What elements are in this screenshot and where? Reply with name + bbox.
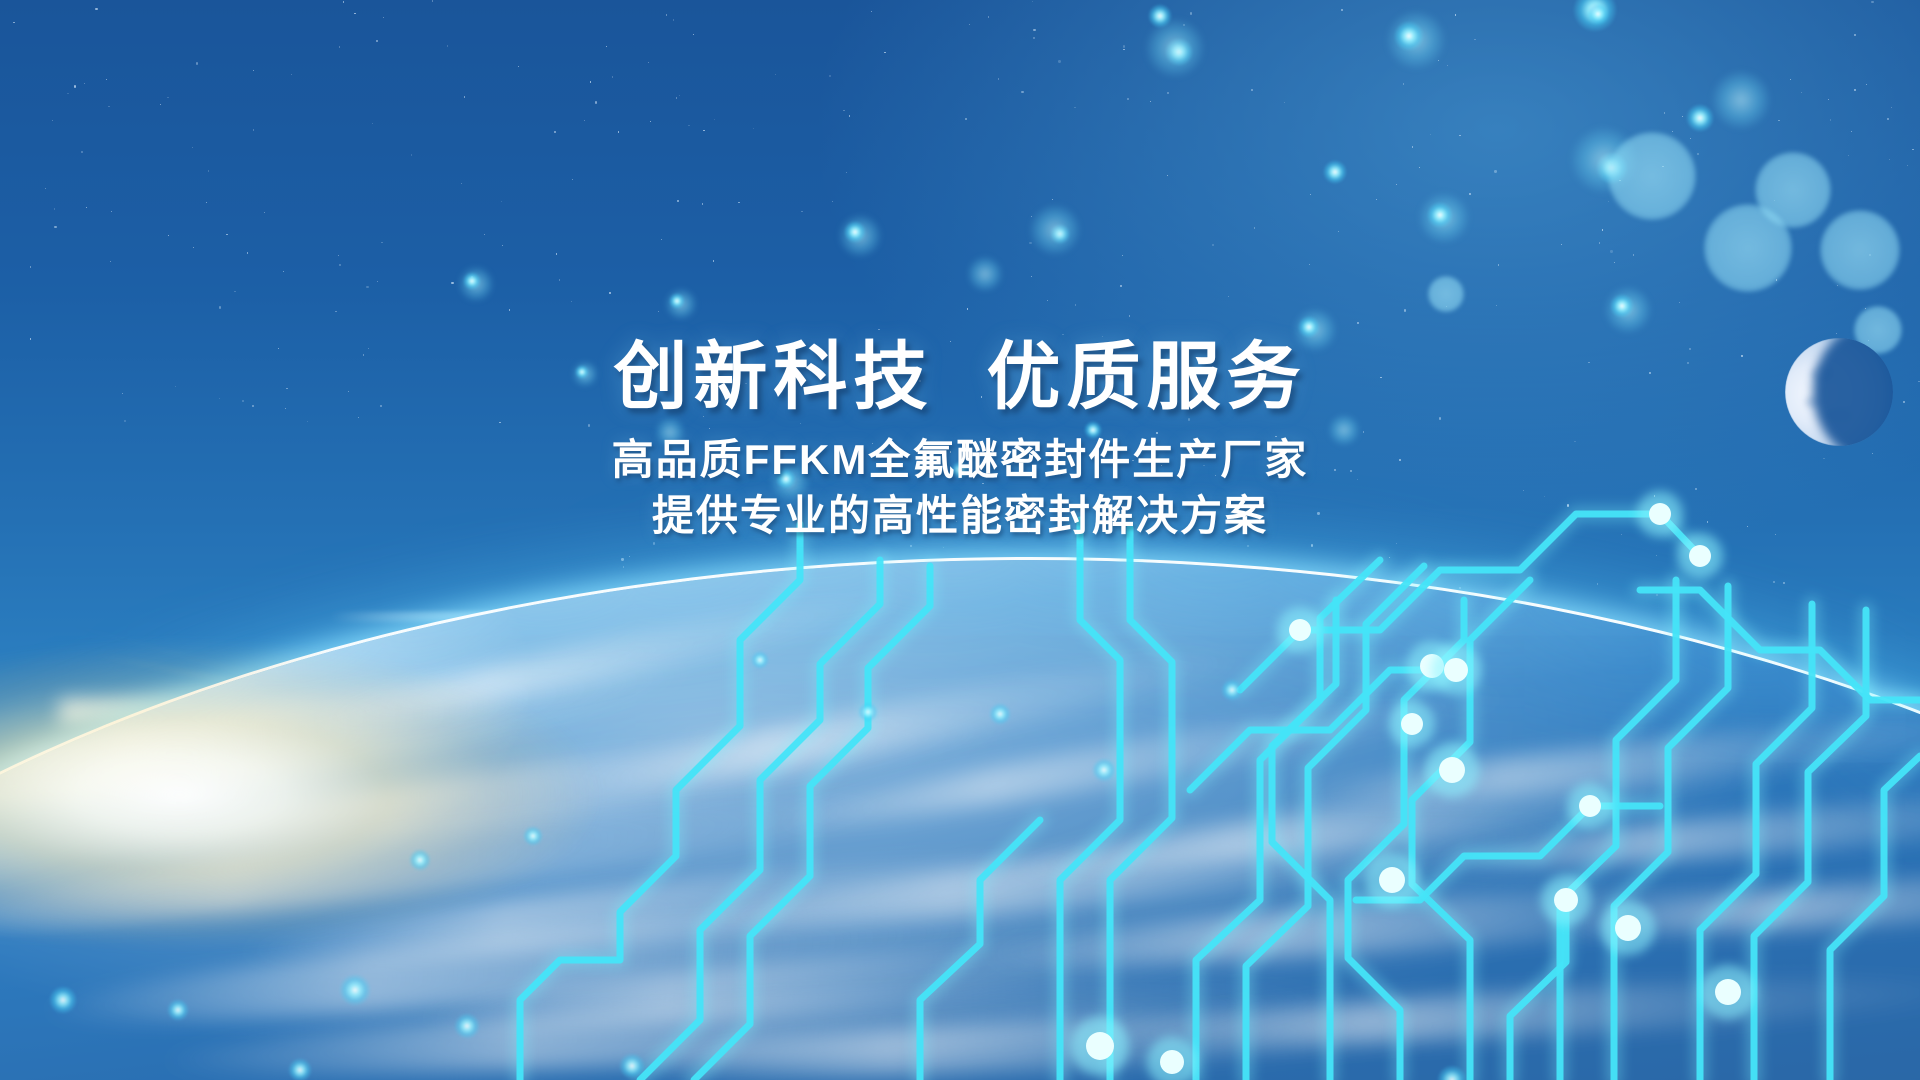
star-dot [1608, 201, 1609, 202]
star-dot [1610, 250, 1612, 252]
star-dot [969, 24, 970, 25]
star-dot [1167, 175, 1168, 176]
star-dot [196, 62, 198, 64]
star-dot [167, 97, 168, 98]
circuit-node-glow [1277, 607, 1323, 653]
star-dot [1494, 170, 1496, 172]
sun-ray [152, 717, 420, 850]
cloud-band [1420, 777, 1920, 883]
star-dot [849, 115, 850, 116]
glow-dot [339, 974, 371, 1006]
circuit-trace [1246, 566, 1424, 1080]
circuit-trace [694, 566, 930, 1080]
circuit-trace [640, 560, 880, 1080]
circuit-trace [1510, 900, 1566, 1080]
star-dot [679, 95, 680, 96]
circuit-trace [920, 820, 1040, 1080]
star-dot [801, 211, 802, 212]
star-dot [1404, 309, 1406, 311]
star-dot [84, 83, 85, 84]
star-dot [1801, 92, 1802, 93]
cloud-band [762, 674, 1517, 845]
star-dot [1297, 596, 1298, 597]
star-dot [1559, 630, 1561, 632]
star-dot [247, 252, 248, 253]
bokeh-orb [1610, 294, 1634, 318]
star-dot [714, 119, 715, 120]
bokeh-orb [844, 221, 866, 243]
circuit-trace [694, 566, 930, 1080]
star-dot [673, 19, 674, 20]
circuit-trace [1060, 520, 1120, 1080]
page-title: 创新科技 优质服务 [0, 338, 1920, 416]
circuit-trace [1190, 670, 1456, 790]
glow-dot [1221, 679, 1243, 701]
star-dot [829, 75, 831, 77]
circuit-node-glow [1567, 783, 1613, 829]
lens-flare-streak [330, 612, 1210, 622]
circuit-node-glow [1601, 901, 1656, 956]
star-dot [666, 14, 667, 15]
star-dot [1774, 200, 1775, 201]
glow-dot [858, 702, 878, 722]
star-dot [1633, 254, 1634, 255]
bokeh-orb [669, 293, 685, 309]
star-dot [571, 301, 572, 302]
star-dot [1033, 37, 1034, 38]
star-dot [1081, 545, 1082, 546]
star-dot [1574, 628, 1575, 629]
star-dot [965, 118, 967, 120]
circuit-node-glow [1541, 875, 1591, 925]
star-dot [291, 74, 292, 75]
bokeh-orb [1428, 276, 1464, 312]
bokeh-orb [967, 256, 1003, 292]
star-dot [383, 17, 384, 18]
star-dot [832, 201, 833, 202]
circuit-node-glow [1425, 743, 1480, 798]
star-dot [1865, 308, 1866, 309]
circuit-node-glow [1407, 641, 1457, 691]
star-dot [377, 281, 378, 282]
star-dot [372, 123, 373, 124]
circuit-trace [1754, 610, 1866, 1080]
star-dot [1047, 300, 1048, 301]
star-dot [1830, 119, 1831, 120]
star-dot [728, 638, 729, 639]
star-dot [676, 97, 677, 98]
star-dot [509, 309, 510, 310]
star-dot [338, 255, 339, 256]
star-dot [554, 131, 556, 133]
star-dot [111, 211, 112, 212]
circuit-trace [1110, 528, 1172, 1080]
star-dot [1129, 315, 1130, 316]
circuit-trace [1348, 600, 1464, 1080]
circuit-node-glow [1071, 1017, 1130, 1076]
star-dot [1619, 180, 1620, 181]
cloud-band [1099, 966, 1920, 1057]
circuit-trace [920, 820, 1040, 1080]
bokeh-orb [458, 266, 494, 302]
star-dot [871, 11, 872, 12]
star-dot [1599, 242, 1600, 243]
star-dot [339, 264, 340, 265]
circuit-trace [1246, 566, 1424, 1080]
circuit-node [1444, 658, 1468, 682]
cloud-band [619, 996, 1520, 1080]
glow-dot [167, 999, 189, 1021]
circuit-node-glow [1431, 645, 1481, 695]
star-dot [86, 207, 87, 208]
star-dot [1122, 255, 1123, 256]
star-dot [1421, 633, 1422, 634]
star-dot [559, 279, 560, 280]
sun-ray [142, 718, 420, 754]
star-dot [1866, 84, 1867, 85]
star-dot [650, 121, 651, 122]
circuit-trace [1640, 590, 1920, 700]
circuit-node [1554, 888, 1578, 912]
cloud-band [1000, 751, 1799, 890]
star-dot [1123, 45, 1125, 47]
cloud-band [120, 698, 1019, 879]
star-dot [967, 308, 968, 309]
glow-dot [989, 703, 1011, 725]
earth-sphere [0, 560, 1920, 1080]
star-dot [713, 260, 714, 261]
star-dot [484, 234, 485, 235]
glow-dot [523, 826, 543, 846]
star-dot [54, 208, 55, 209]
circuit-trace [1614, 586, 1728, 1080]
star-dot [160, 104, 161, 105]
cloud-band [159, 969, 1360, 1080]
star-dot [1602, 229, 1603, 230]
bokeh-orb [1686, 104, 1714, 132]
cloud-band [39, 882, 1141, 1044]
circuit-trace [1700, 604, 1812, 1080]
star-dot [193, 247, 194, 248]
cloud-band [1280, 700, 1920, 819]
star-dot [110, 261, 111, 262]
bokeh-orb [1148, 4, 1172, 28]
star-dot [595, 101, 597, 103]
star-dot [1074, 107, 1075, 108]
circuit-trace [1190, 670, 1456, 790]
star-dot [1664, 112, 1665, 113]
sun-ray [280, 719, 420, 1080]
star-dot [1251, 89, 1253, 91]
star-dot [381, 242, 382, 243]
bokeh-orb [1820, 210, 1900, 290]
star-dot [74, 85, 76, 87]
circuit-trace [1356, 806, 1660, 900]
star-dot [943, 547, 944, 548]
sun-ray [128, 718, 420, 972]
star-dot [612, 76, 613, 77]
glow-dot [751, 651, 769, 669]
star-dot [253, 70, 254, 71]
cloud-band [0, 771, 920, 952]
star-dot [623, 566, 624, 567]
bokeh-orb [1704, 204, 1792, 292]
star-dot [1871, 1, 1873, 3]
star-dot [1887, 118, 1888, 119]
circuit-trace [1640, 590, 1920, 700]
circuit-node [1401, 713, 1423, 735]
star-dot [1446, 306, 1447, 307]
star-dot [335, 311, 336, 312]
glow-dot [288, 1058, 312, 1080]
sun-ray [92, 652, 421, 720]
bokeh-orb [1050, 224, 1070, 244]
star-dot [1150, 101, 1151, 102]
star-dot [67, 93, 68, 94]
star-dot [1778, 120, 1779, 121]
star-dot [1310, 194, 1311, 195]
star-dot [95, 8, 97, 10]
star-dot [688, 125, 689, 126]
star-dot [464, 96, 465, 97]
bokeh-orb [1573, 0, 1617, 32]
sun-ray [215, 717, 420, 960]
circuit-trace [640, 560, 880, 1080]
glow-dot [454, 1013, 480, 1039]
circuit-trace [1560, 580, 1676, 1080]
star-dot [1228, 296, 1229, 297]
star-dot [1854, 34, 1855, 35]
star-dot [1672, 131, 1673, 132]
star-dot [1309, 264, 1310, 265]
sun-ray [159, 682, 421, 720]
star-dot [1032, 1, 1033, 2]
star-dot [661, 239, 662, 240]
star-dot [618, 131, 619, 132]
star-dot [1891, 107, 1892, 108]
star-dot [447, 45, 448, 46]
star-dot [283, 271, 284, 272]
circuit-node [1289, 619, 1311, 641]
bokeh-orb [463, 272, 481, 290]
circuit-trace [1272, 600, 1336, 1080]
star-dot [1163, 593, 1164, 594]
star-dot [81, 151, 83, 153]
circuit-node [1086, 1032, 1114, 1060]
star-dot [234, 291, 235, 292]
star-dot [775, 74, 776, 75]
star-dot [376, 40, 377, 41]
star-dot [1828, 99, 1829, 100]
sun-ray [369, 719, 420, 1047]
star-dot [1100, 620, 1102, 622]
atmosphere-limb-glow [0, 560, 1920, 1080]
star-dot [702, 203, 703, 204]
banner-text-block: 创新科技 优质服务 高品质FFKM全氟醚密封件生产厂家 提供专业的高性能密封解决… [0, 338, 1920, 543]
star-dot [1662, 166, 1663, 167]
circuit-trace [1110, 528, 1172, 1080]
bokeh-orb [1608, 132, 1696, 220]
circuit-node [1420, 654, 1444, 678]
cloud-band [420, 924, 1241, 1041]
star-dot [988, 16, 989, 17]
star-dot [1614, 262, 1615, 263]
star-dot [264, 212, 265, 213]
bokeh-orb [1386, 10, 1446, 70]
star-dot [1837, 285, 1838, 286]
star-dot [226, 234, 227, 235]
circuit-trace [1560, 580, 1676, 1080]
star-dot [1889, 159, 1890, 160]
star-dot [1247, 545, 1248, 546]
star-dot [1912, 149, 1913, 150]
circuit-trace [1700, 604, 1812, 1080]
bokeh-orb [1711, 70, 1771, 130]
circuit-node-glow [1147, 1037, 1197, 1080]
star-dot [998, 78, 999, 79]
sun-ray [29, 613, 421, 720]
lens-flare-haze [60, 700, 1220, 726]
bokeh-orb [665, 288, 697, 320]
star-dot [590, 81, 591, 82]
star-dot [584, 120, 585, 121]
bokeh-orb [838, 214, 882, 258]
subtitle-line-2: 提供专业的高性能密封解决方案 [0, 488, 1920, 543]
star-dot [471, 276, 473, 278]
star-dot [572, 179, 573, 180]
circuit-trace [520, 524, 800, 1080]
star-dot [1176, 593, 1177, 594]
cloud-band [240, 834, 1121, 980]
glow-dot [1437, 1065, 1467, 1080]
star-dot [1682, 116, 1683, 117]
glow-dot [1092, 758, 1116, 782]
star-dot [1212, 244, 1214, 246]
circuit-node [1715, 979, 1741, 1005]
star-dot [1656, 555, 1657, 556]
star-dot [1075, 304, 1076, 305]
sun-ray [70, 714, 420, 839]
star-dot [1561, 244, 1562, 245]
star-dot [1120, 285, 1121, 286]
bokeh-orb [1755, 152, 1831, 228]
star-dot [729, 610, 730, 611]
star-dot [1007, 582, 1008, 583]
star-dot [1338, 231, 1339, 232]
circuit-node [1579, 795, 1601, 817]
star-dot [1389, 557, 1390, 558]
star-dot [843, 110, 844, 111]
star-dot [106, 79, 107, 80]
sun-core-glow [0, 470, 840, 1030]
star-dot [1031, 276, 1032, 277]
circuit-trace [1412, 580, 1530, 1080]
star-dot [1183, 24, 1184, 25]
cloud-band [979, 869, 1880, 980]
star-dot [1419, 167, 1420, 168]
star-dot [693, 34, 694, 35]
star-dot [1854, 89, 1855, 90]
star-dot [501, 201, 502, 202]
hero-banner: 创新科技 优质服务 高品质FFKM全氟醚密封件生产厂家 提供专业的高性能密封解决… [0, 0, 1920, 1080]
circuit-trace [1272, 600, 1336, 1080]
star-dot [1033, 29, 1035, 31]
star-dot [1341, 9, 1342, 10]
star-dot [1396, 184, 1397, 185]
circuit-trace [1196, 560, 1380, 1080]
bokeh-orb [1323, 160, 1347, 184]
star-dot [1790, 79, 1791, 80]
cloud-band [1559, 856, 1920, 947]
star-dot [1498, 264, 1499, 265]
star-dot [253, 129, 254, 130]
star-dot [1597, 583, 1598, 584]
sun-ray [35, 716, 420, 969]
cloud-band [562, 634, 1258, 811]
star-dot [13, 22, 14, 23]
star-dot [1776, 279, 1777, 280]
circuit-node [1439, 757, 1465, 783]
star-dot [837, 637, 839, 639]
glow-dot [409, 849, 431, 871]
star-dot [411, 154, 412, 155]
star-dot [1679, 302, 1680, 303]
star-dot [1907, 165, 1908, 166]
star-dot [738, 202, 739, 203]
circuit-node [1689, 545, 1711, 567]
star-dot [1459, 587, 1460, 588]
star-dot [208, 170, 209, 171]
star-dot [1455, 14, 1456, 15]
star-dot [1052, 199, 1053, 200]
star-dot [1127, 98, 1129, 100]
cloud-band [0, 636, 700, 833]
circuit-node [1160, 1050, 1184, 1074]
star-dot [846, 172, 847, 173]
star-dot [1190, 12, 1192, 14]
bokeh-orb [1145, 18, 1205, 78]
star-dot [1447, 65, 1448, 66]
circuit-node-glow [1365, 853, 1420, 908]
star-dot [1284, 102, 1285, 103]
star-dot [1376, 199, 1377, 200]
star-dot [502, 245, 503, 246]
star-dot [30, 266, 31, 267]
star-dot [727, 630, 728, 631]
star-dot [1848, 155, 1849, 156]
circuit-trace [1510, 900, 1566, 1080]
star-dot [609, 292, 610, 293]
star-dot [1412, 146, 1413, 147]
bokeh-orb [1587, 3, 1609, 25]
star-dot [1058, 60, 1060, 62]
star-dot [556, 253, 557, 254]
circuit-trace [1356, 806, 1660, 900]
bokeh-orb [1596, 152, 1628, 184]
bokeh-orb [1394, 21, 1424, 51]
star-dot [1042, 597, 1043, 598]
star-dot [45, 188, 46, 189]
circuit-trace [1830, 756, 1920, 1080]
star-dot [1254, 227, 1255, 228]
star-dot [518, 66, 519, 67]
star-dot [432, 0, 433, 1]
star-dot [1029, 242, 1031, 244]
star-dot [1438, 60, 1439, 61]
star-dot [206, 202, 207, 203]
star-dot [648, 62, 649, 63]
star-dot [703, 130, 704, 131]
